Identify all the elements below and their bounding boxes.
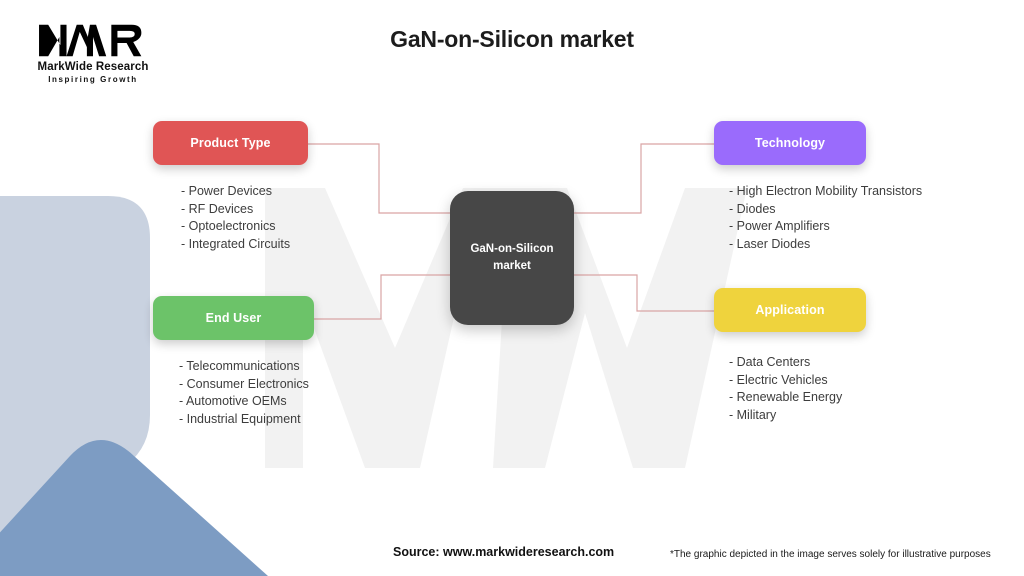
- category-end-user: End User - Telecommunications - Consumer…: [153, 296, 314, 428]
- category-header-technology[interactable]: Technology: [714, 121, 866, 165]
- category-items-product-type: - Power Devices - RF Devices - Optoelect…: [153, 183, 308, 253]
- list-item: - Optoelectronics: [181, 218, 308, 236]
- category-items-technology: - High Electron Mobility Transistors - D…: [714, 183, 866, 253]
- logo-tagline: Inspiring Growth: [18, 75, 168, 84]
- category-items-application: - Data Centers - Electric Vehicles - Ren…: [714, 354, 866, 424]
- list-item: - Consumer Electronics: [179, 376, 314, 394]
- decorative-shape-light: [0, 196, 150, 576]
- connector-application: [572, 275, 716, 311]
- center-node-label: GaN-on-Silicon market: [470, 241, 553, 274]
- connector-product-type: [308, 144, 452, 213]
- page-title: GaN-on-Silicon market: [0, 26, 1024, 53]
- list-item: - High Electron Mobility Transistors: [729, 183, 866, 201]
- category-label-product-type: Product Type: [190, 136, 270, 150]
- category-header-application[interactable]: Application: [714, 288, 866, 332]
- diagram-canvas: MarkWide Research Inspiring Growth GaN-o…: [0, 0, 1024, 576]
- list-item: - Automotive OEMs: [179, 393, 314, 411]
- category-header-end-user[interactable]: End User: [153, 296, 314, 340]
- list-item: - Power Devices: [181, 183, 308, 201]
- category-header-product-type[interactable]: Product Type: [153, 121, 308, 165]
- connector-end-user: [314, 275, 452, 319]
- list-item: - Electric Vehicles: [729, 372, 866, 390]
- list-item: - Integrated Circuits: [181, 236, 308, 254]
- disclaimer-text: *The graphic depicted in the image serve…: [670, 549, 991, 560]
- category-label-technology: Technology: [755, 136, 825, 150]
- category-items-end-user: - Telecommunications - Consumer Electron…: [153, 358, 314, 428]
- list-item: - Telecommunications: [179, 358, 314, 376]
- center-node: GaN-on-Silicon market: [450, 191, 574, 325]
- logo-name: MarkWide Research: [18, 61, 168, 73]
- list-item: - Military: [729, 407, 866, 425]
- connector-technology: [572, 144, 716, 213]
- list-item: - Industrial Equipment: [179, 411, 314, 429]
- list-item: - Diodes: [729, 201, 866, 219]
- category-label-end-user: End User: [206, 311, 262, 325]
- list-item: - Data Centers: [729, 354, 866, 372]
- list-item: - RF Devices: [181, 201, 308, 219]
- list-item: - Power Amplifiers: [729, 218, 866, 236]
- source-text: Source: www.markwideresearch.com: [393, 545, 614, 559]
- list-item: - Laser Diodes: [729, 236, 866, 254]
- category-application: Application - Data Centers - Electric Ve…: [714, 288, 866, 424]
- category-label-application: Application: [755, 303, 824, 317]
- category-technology: Technology - High Electron Mobility Tran…: [714, 121, 866, 253]
- list-item: - Renewable Energy: [729, 389, 866, 407]
- category-product-type: Product Type - Power Devices - RF Device…: [153, 121, 308, 253]
- decorative-shape-dark: [0, 440, 268, 576]
